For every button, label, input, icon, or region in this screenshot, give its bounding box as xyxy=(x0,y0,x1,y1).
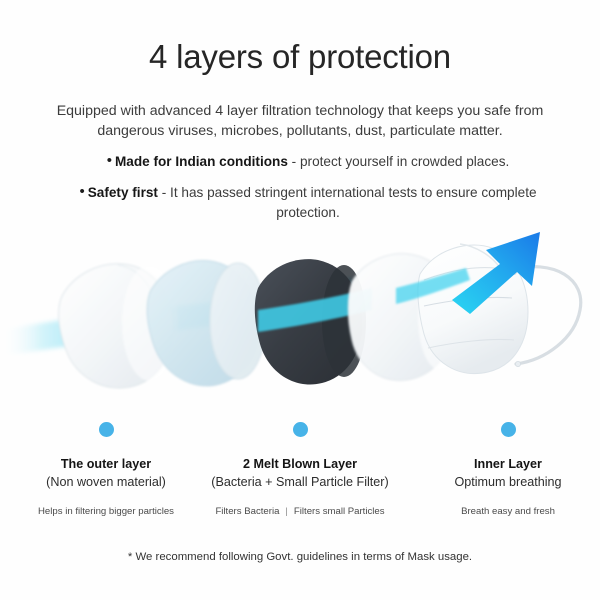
bullet-item-1-rest: - protect yourself in crowded places. xyxy=(288,154,509,169)
bullet-item-2: •Safety first - It has passed stringent … xyxy=(48,181,568,222)
legend-note-outer: Helps in filtering bigger particles xyxy=(6,505,206,518)
bullet-item-1-lead: Made for Indian conditions xyxy=(115,154,288,169)
legend-title-inner: Inner Layer xyxy=(408,455,600,473)
bullet-marker-icon: • xyxy=(107,152,112,169)
mask-layers-infographic: 4 layers of protection Equipped with adv… xyxy=(0,0,600,600)
legend-subtitle-melt-blown: (Bacteria + Small Particle Filter) xyxy=(200,473,400,491)
legend-dot-outer xyxy=(99,422,114,437)
page-title: 4 layers of protection xyxy=(0,38,600,76)
legend-title-melt-blown: 2 Melt Blown Layer xyxy=(200,455,400,473)
legend-column-inner-layer: Inner Layer Optimum breathing Breath eas… xyxy=(408,455,600,518)
page-subtitle: Equipped with advanced 4 layer filtratio… xyxy=(36,101,564,141)
bullet-marker-icon: • xyxy=(79,183,84,200)
footer-disclaimer: * We recommend following Govt. guideline… xyxy=(0,551,600,563)
legend-note-melt-blown: Filters Bacteria|Filters small Particles xyxy=(200,505,400,518)
legend-subtitle-outer: (Non woven material) xyxy=(6,473,206,491)
legend-column-melt-blown: 2 Melt Blown Layer (Bacteria + Small Par… xyxy=(200,455,400,518)
legend-note-inner: Breath easy and fresh xyxy=(408,505,600,518)
legend-row: The outer layer (Non woven material) Hel… xyxy=(0,455,600,525)
legend-note-melt-blown-left: Filters Bacteria xyxy=(215,506,279,517)
legend-subtitle-inner: Optimum breathing xyxy=(408,473,600,491)
legend-title-outer: The outer layer xyxy=(6,455,206,473)
assembled-mask xyxy=(418,244,581,374)
legend-dot-melt-blown xyxy=(293,422,308,437)
exploded-mask-layers-diagram xyxy=(0,218,600,418)
legend-note-melt-blown-right: Filters small Particles xyxy=(294,506,385,517)
bullet-item-2-lead: Safety first xyxy=(88,185,158,200)
legend-column-outer-layer: The outer layer (Non woven material) Hel… xyxy=(6,455,206,518)
legend-note-separator: | xyxy=(279,506,294,517)
legend-dot-inner xyxy=(501,422,516,437)
bullet-item-1: •Made for Indian conditions - protect yo… xyxy=(48,150,568,172)
bullet-item-2-rest: - It has passed stringent international … xyxy=(158,185,537,220)
